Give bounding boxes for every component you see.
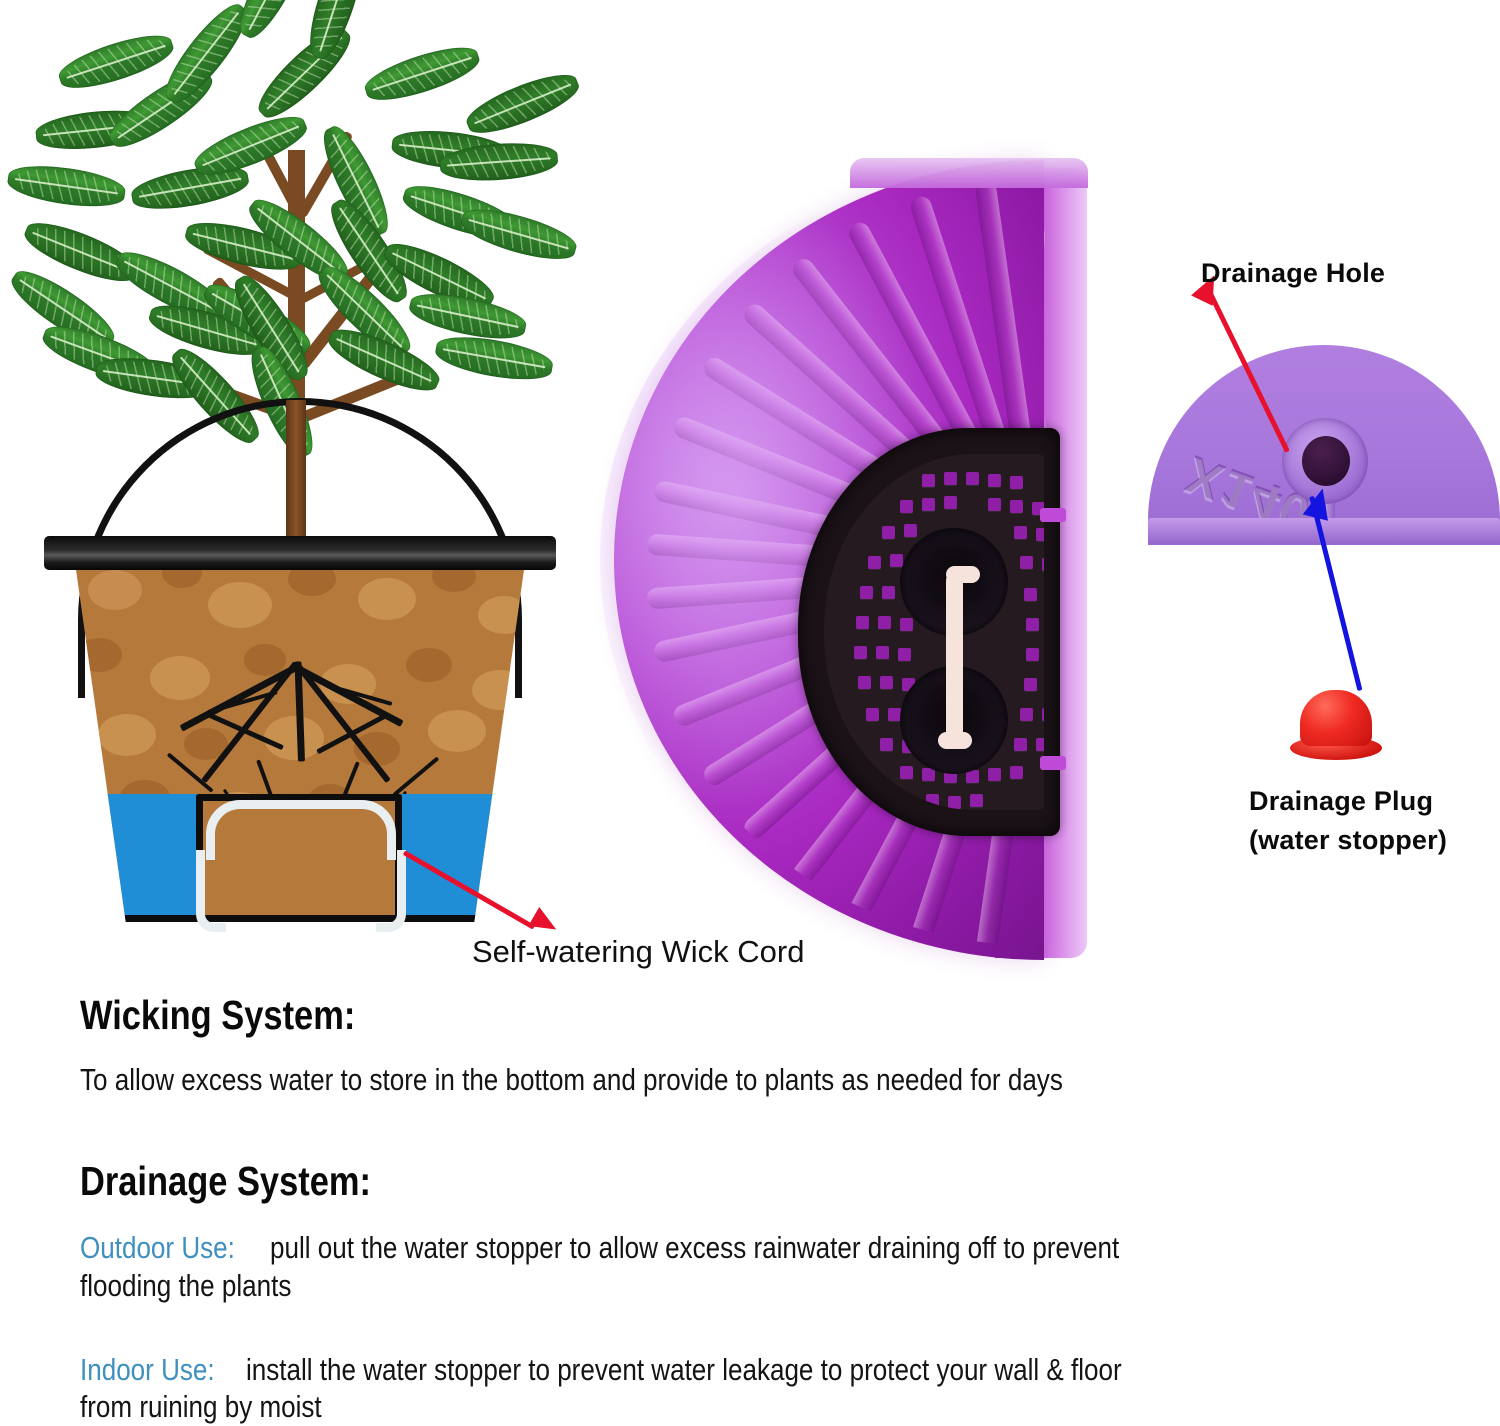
grid-hole — [866, 708, 879, 721]
outdoor-use-line2: flooding the plants — [80, 1267, 1460, 1305]
grid-hole — [966, 472, 979, 485]
grid-hole — [900, 500, 913, 513]
indoor-use-item: Indoor Use:install the water stopper to … — [80, 1351, 1460, 1426]
soil-texture-blob — [76, 638, 122, 672]
wicking-system-body: To allow excess water to store in the bo… — [80, 1061, 1460, 1099]
grid-hole — [882, 586, 895, 599]
outdoor-use-text: pull out the water stopper to allow exce… — [270, 1229, 1119, 1267]
grid-hole — [890, 554, 903, 567]
plant-foliage — [0, 0, 600, 430]
grid-hole — [868, 556, 881, 569]
grid-hole — [854, 646, 867, 659]
grid-hole — [1010, 766, 1023, 779]
grid-hole — [1042, 558, 1044, 571]
grid-hole — [922, 474, 935, 487]
soil-texture-blob — [88, 570, 142, 610]
arrow-shaft — [1204, 283, 1290, 452]
planter-top-rim — [850, 158, 1088, 188]
wick-cord-bottom-curl — [938, 732, 972, 749]
plug-body — [1300, 690, 1372, 746]
soil-texture-blob — [428, 710, 486, 752]
grid-hole — [1024, 588, 1037, 601]
grid-hole — [922, 498, 935, 511]
grid-hole — [1036, 738, 1044, 751]
grid-hole — [900, 618, 913, 631]
grid-hole — [1036, 528, 1044, 541]
soil-texture-blob — [208, 582, 272, 628]
plant-leaf — [230, 0, 317, 44]
grid-hole — [1010, 500, 1023, 513]
wick-insert-grid-face — [824, 454, 1044, 810]
infographic-page: Self-watering Wick Cord — [0, 0, 1500, 1389]
grid-hole — [856, 616, 869, 629]
insert-side-tab — [1040, 508, 1066, 522]
grid-hole — [1010, 476, 1023, 489]
indoor-use-text-line2: from ruining by moist — [80, 1388, 322, 1426]
plant-leaf — [360, 38, 483, 109]
insert-side-tab — [1040, 756, 1066, 770]
plant-pot-cutaway-illustration — [0, 0, 600, 980]
grid-hole — [1026, 648, 1039, 661]
soil-texture-blob — [472, 670, 528, 710]
wick-cord-callout-arrow — [404, 850, 604, 940]
arrow-shaft — [1309, 496, 1362, 691]
plant-root — [392, 756, 439, 796]
grid-hole — [988, 474, 1001, 487]
grid-hole — [988, 768, 1001, 781]
grid-hole — [904, 524, 917, 537]
outdoor-use-line1: Outdoor Use:pull out the water stopper t… — [80, 1229, 1460, 1267]
grid-hole — [876, 646, 889, 659]
planter-product-photo — [600, 150, 1120, 970]
drainage-system-section: Drainage System: Outdoor Use:pull out th… — [80, 1158, 1460, 1426]
plant-leaf — [457, 201, 580, 268]
soil-texture-blob — [264, 716, 324, 760]
wicking-system-section: Wicking System: To allow excess water to… — [80, 992, 1460, 1099]
plant-leaf — [433, 330, 555, 386]
wicking-system-heading: Wicking System: — [80, 992, 1460, 1039]
grid-hole — [1014, 526, 1027, 539]
grid-hole — [988, 498, 1001, 511]
outdoor-use-label: Outdoor Use: — [80, 1229, 235, 1267]
grid-hole — [1020, 708, 1033, 721]
drainage-system-heading: Drainage System: — [80, 1158, 1460, 1205]
wick-cord-top-curl — [946, 566, 980, 583]
indoor-use-line2: from ruining by moist — [80, 1388, 1460, 1426]
grid-hole — [1026, 618, 1039, 631]
outdoor-use-text-line2: flooding the plants — [80, 1267, 291, 1305]
grid-hole — [900, 766, 913, 779]
drainage-hole-callout-arrow — [1200, 274, 1340, 464]
grid-hole — [1020, 556, 1033, 569]
arrow-head-icon — [1303, 485, 1335, 520]
wicking-system-heading-text: Wicking System: — [80, 992, 355, 1039]
drainage-plug-label: Drainage Plug (water stopper) — [1249, 786, 1447, 856]
plant-leaf — [5, 160, 127, 212]
grid-hole — [880, 738, 893, 751]
grid-hole — [858, 676, 871, 689]
soil-texture-blob — [150, 656, 210, 700]
grid-hole — [898, 648, 911, 661]
grid-hole — [878, 616, 891, 629]
drainage-plug-label-line2: (water stopper) — [1249, 825, 1447, 856]
drainage-plug-part — [1290, 690, 1382, 762]
plant-leaf — [54, 26, 177, 97]
grid-hole — [1014, 738, 1027, 751]
pot-rim — [44, 536, 556, 570]
grid-hole — [860, 586, 873, 599]
indoor-use-line1: Indoor Use:install the water stopper to … — [80, 1351, 1460, 1389]
grid-hole — [880, 676, 893, 689]
grid-hole — [882, 526, 895, 539]
arrow-shaft — [403, 850, 535, 929]
drainage-system-heading-text: Drainage System: — [80, 1158, 371, 1205]
plant-leaf — [249, 19, 359, 127]
grid-hole — [970, 794, 983, 807]
grid-hole — [926, 794, 939, 807]
soil-texture-blob — [358, 578, 416, 620]
drainage-plug-callout-arrow — [1308, 488, 1428, 703]
indoor-use-text: install the water stopper to prevent wat… — [246, 1351, 1122, 1389]
wick-cord-right-leg — [376, 850, 406, 932]
indoor-use-label: Indoor Use: — [80, 1351, 215, 1389]
grid-hole — [944, 496, 957, 509]
soil-texture-blob — [406, 648, 452, 682]
wick-cord-in-pot — [206, 800, 396, 860]
grid-hole — [1042, 708, 1044, 721]
plant-leaf — [461, 65, 584, 143]
wicking-system-body-text: To allow excess water to store in the bo… — [80, 1061, 1063, 1099]
wick-cord-left-leg — [196, 850, 226, 932]
wick-insert-panel — [798, 428, 1060, 836]
grid-hole — [1024, 678, 1037, 691]
grid-hole — [944, 472, 957, 485]
grid-hole — [948, 796, 961, 809]
outdoor-use-item: Outdoor Use:pull out the water stopper t… — [80, 1229, 1460, 1305]
soil-texture-blob — [478, 596, 530, 634]
drainage-hole-label: Drainage Hole — [1201, 258, 1385, 289]
wick-cord-threaded — [946, 572, 963, 742]
drainage-plug-label-line1: Drainage Plug — [1249, 786, 1447, 817]
drainage-hole-label-text: Drainage Hole — [1201, 258, 1385, 288]
soil-texture-blob — [98, 714, 156, 756]
